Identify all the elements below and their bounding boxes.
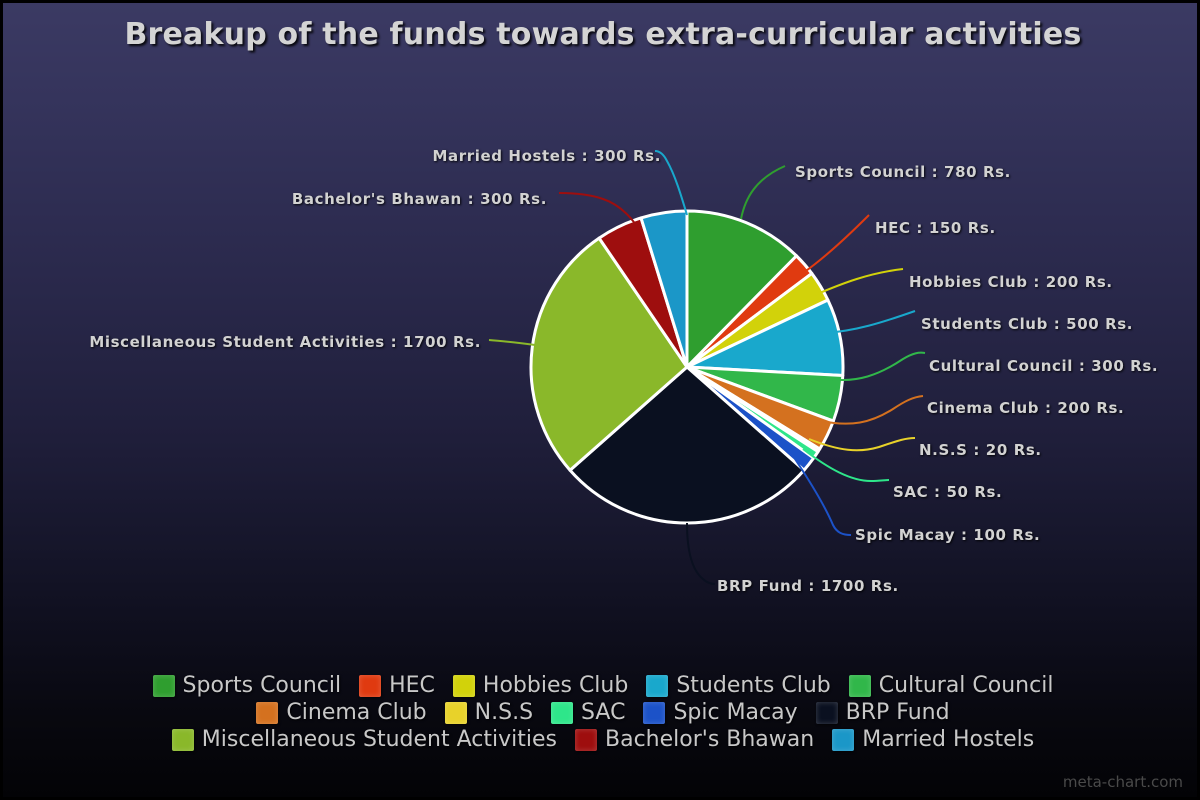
slice-value-label: Sports Council : 780 Rs. [795, 163, 1011, 181]
legend-label: Cinema Club [286, 700, 426, 725]
legend-color-swatch [575, 729, 597, 751]
legend-color-swatch [646, 675, 668, 697]
legend-color-swatch [453, 675, 475, 697]
legend-label: Married Hostels [862, 727, 1034, 752]
legend-item[interactable]: Cultural Council [849, 673, 1054, 698]
legend-label: N.S.S [475, 700, 533, 725]
slice-value-label: Miscellaneous Student Activities : 1700 … [3, 333, 481, 351]
legend-color-swatch [153, 675, 175, 697]
legend-item[interactable]: Hobbies Club [453, 673, 628, 698]
slice-value-label: Spic Macay : 100 Rs. [855, 526, 1040, 544]
legend-row: Sports CouncilHECHobbies ClubStudents Cl… [153, 673, 1054, 698]
legend-item[interactable]: Married Hostels [832, 727, 1034, 752]
legend-item[interactable]: N.S.S [445, 700, 533, 725]
legend-item[interactable]: SAC [551, 700, 625, 725]
legend-row: Miscellaneous Student ActivitiesBachelor… [172, 727, 1034, 752]
watermark-text: meta-chart.com [1063, 773, 1183, 791]
slice-value-label: BRP Fund : 1700 Rs. [717, 577, 899, 595]
leader-line [795, 459, 851, 535]
legend-label: Bachelor's Bhawan [605, 727, 814, 752]
slice-value-label: Cinema Club : 200 Rs. [927, 399, 1124, 417]
legend-color-swatch [816, 702, 838, 724]
legend-color-swatch [849, 675, 871, 697]
legend-color-swatch [445, 702, 467, 724]
leader-line [741, 166, 785, 219]
legend-label: HEC [389, 673, 435, 698]
legend-row: Cinema ClubN.S.SSACSpic MacayBRP Fund [256, 700, 949, 725]
legend-item[interactable]: Spic Macay [643, 700, 797, 725]
legend-item[interactable]: Students Club [646, 673, 830, 698]
legend-item[interactable]: Sports Council [153, 673, 342, 698]
legend-color-swatch [359, 675, 381, 697]
legend-item[interactable]: HEC [359, 673, 435, 698]
leader-line [803, 215, 869, 273]
slice-value-label: Students Club : 500 Rs. [921, 315, 1133, 333]
legend-label: Sports Council [183, 673, 342, 698]
legend-color-swatch [832, 729, 854, 751]
legend-label: Miscellaneous Student Activities [202, 727, 557, 752]
legend-label: Spic Macay [673, 700, 797, 725]
legend-label: Cultural Council [879, 673, 1054, 698]
legend-color-swatch [256, 702, 278, 724]
legend-label: Students Club [676, 673, 830, 698]
slice-value-label: Bachelor's Bhawan : 300 Rs. [3, 190, 547, 208]
leader-line [489, 340, 535, 345]
legend-color-swatch [551, 702, 573, 724]
legend-color-swatch [172, 729, 194, 751]
slice-value-label: SAC : 50 Rs. [893, 483, 1002, 501]
leader-line [687, 523, 715, 584]
leader-line [815, 269, 903, 295]
slice-value-label: Hobbies Club : 200 Rs. [909, 273, 1113, 291]
chart-legend[interactable]: Sports CouncilHECHobbies ClubStudents Cl… [3, 673, 1200, 752]
legend-label: SAC [581, 700, 625, 725]
legend-color-swatch [643, 702, 665, 724]
legend-item[interactable]: Bachelor's Bhawan [575, 727, 814, 752]
slice-value-label: N.S.S : 20 Rs. [919, 441, 1042, 459]
pie-chart-figure: Breakup of the funds towards extra-curri… [0, 0, 1200, 800]
slice-value-label: HEC : 150 Rs. [875, 219, 996, 237]
legend-item[interactable]: BRP Fund [816, 700, 950, 725]
legend-item[interactable]: Miscellaneous Student Activities [172, 727, 557, 752]
legend-label: BRP Fund [846, 700, 950, 725]
pie-slice-group[interactable] [531, 211, 843, 523]
slice-value-label: Cultural Council : 300 Rs. [929, 357, 1158, 375]
legend-item[interactable]: Cinema Club [256, 700, 426, 725]
slice-value-label: Married Hostels : 300 Rs. [3, 147, 661, 165]
legend-label: Hobbies Club [483, 673, 628, 698]
